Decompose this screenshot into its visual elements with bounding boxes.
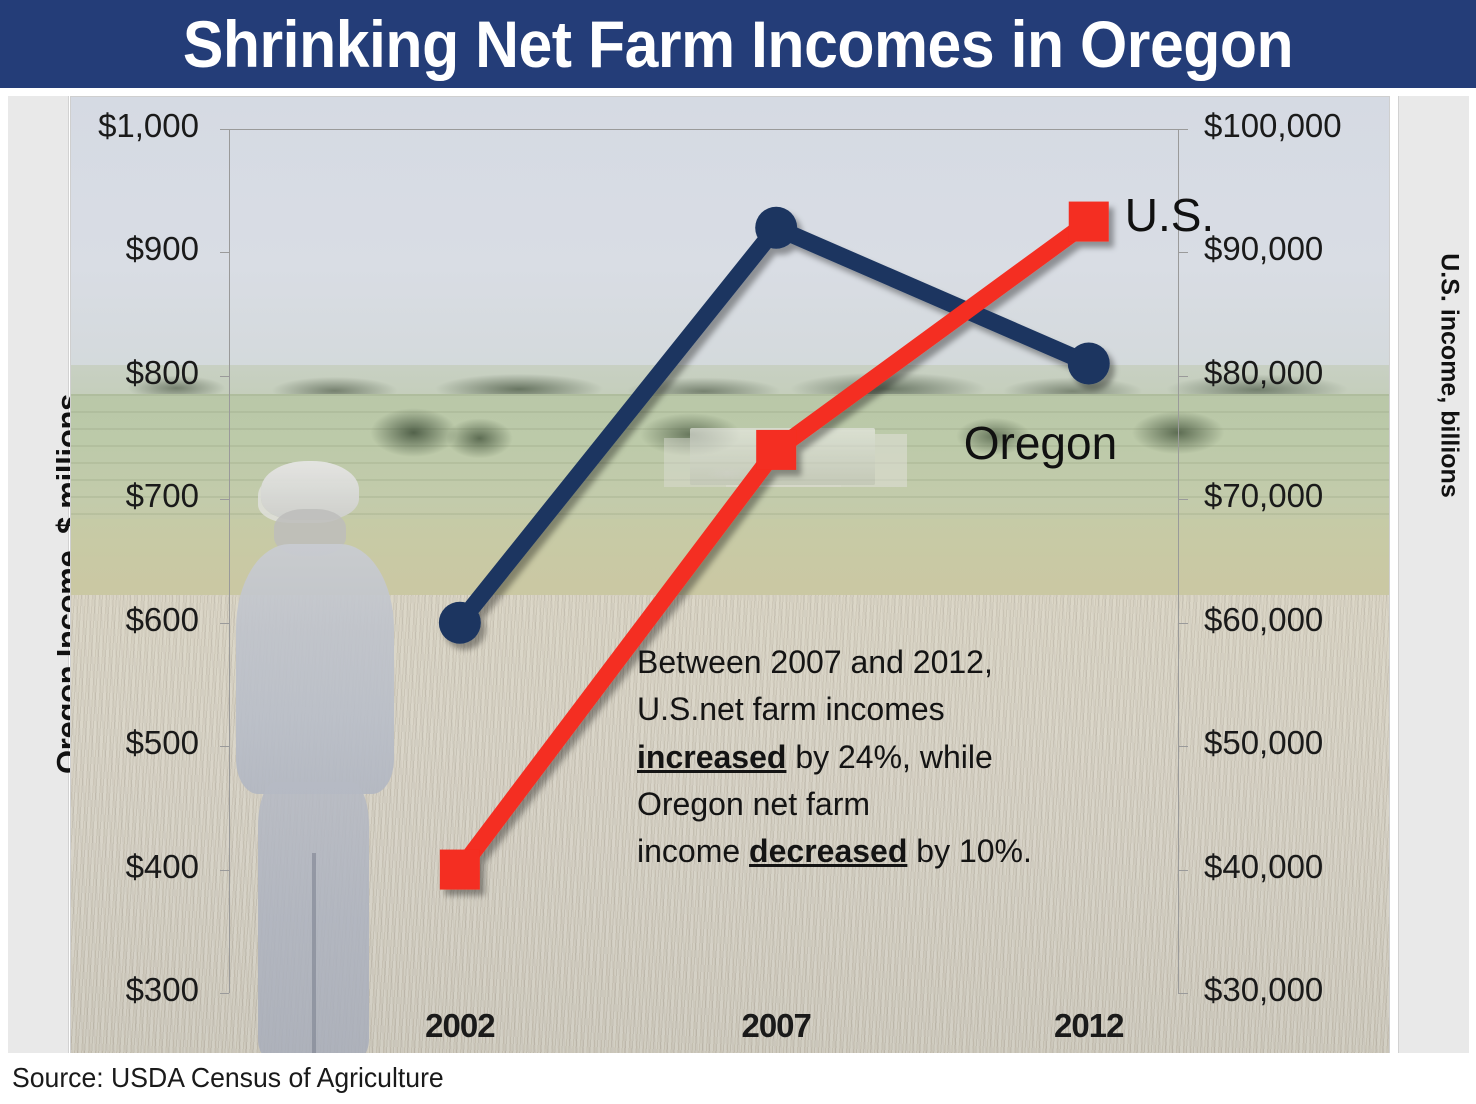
annotation-line-5: income decreased by 10%.	[637, 828, 1107, 875]
left-tick	[220, 623, 229, 624]
x-tick-label: 2012	[1054, 1007, 1123, 1045]
annotation-line-4: Oregon net farm	[637, 781, 1107, 828]
right-tick	[1178, 376, 1188, 377]
right-tick-label: $70,000	[1204, 477, 1323, 515]
left-axis-title-panel: Oregon Income, $ millions	[8, 96, 69, 1056]
data-point-marker	[755, 207, 797, 249]
right-tick-label: $90,000	[1204, 230, 1323, 268]
series-label-us: U.S.	[1125, 188, 1214, 242]
left-tick	[220, 746, 229, 747]
annotation-emphasis-decreased: decreased	[749, 833, 907, 869]
infographic-page: Shrinking Net Farm Incomes in Oregon Ore…	[0, 0, 1476, 1104]
right-tick	[1178, 993, 1188, 994]
right-tick	[1178, 129, 1188, 130]
annotation-line-5-start: income	[637, 833, 749, 869]
right-tick-label: $30,000	[1204, 971, 1323, 1009]
left-tick-label: $400	[126, 848, 199, 886]
left-tick-label: $900	[126, 230, 199, 268]
annotation-line-1: Between 2007 and 2012,	[637, 639, 1107, 686]
right-tick-label: $80,000	[1204, 354, 1323, 392]
right-tick	[1178, 746, 1188, 747]
page-title: Shrinking Net Farm Incomes in Oregon	[59, 0, 1417, 88]
left-tick	[220, 993, 229, 994]
left-tick-label: $300	[126, 971, 199, 1009]
data-point-marker	[756, 430, 796, 470]
annotation-callout: Between 2007 and 2012, U.S.net farm inco…	[637, 639, 1107, 876]
annotation-line-3: increased by 24%, while	[637, 734, 1107, 781]
right-tick	[1178, 252, 1188, 253]
x-tick-label: 2002	[425, 1007, 494, 1045]
left-tick	[220, 376, 229, 377]
left-tick	[220, 499, 229, 500]
data-point-marker	[439, 602, 481, 644]
left-tick	[220, 252, 229, 253]
right-tick	[1178, 499, 1188, 500]
left-tick-label: $1,000	[98, 107, 199, 145]
chart-canvas: $300$400$500$600$700$800$900$1,000 $30,0…	[70, 96, 1390, 1056]
source-caption: Source: USDA Census of Agriculture	[12, 1062, 444, 1094]
right-tick-label: $100,000	[1204, 107, 1342, 145]
right-axis-title: U.S. income, billions	[1435, 0, 1464, 876]
right-tick-label: $50,000	[1204, 724, 1323, 762]
data-point-marker	[1068, 343, 1110, 385]
right-tick	[1178, 623, 1188, 624]
annotation-emphasis-increased: increased	[637, 739, 786, 775]
annotation-line-5-end: by 10%.	[907, 833, 1032, 869]
left-tick-label: $500	[126, 724, 199, 762]
x-tick-label: 2007	[741, 1007, 810, 1045]
data-point-marker	[1069, 202, 1109, 242]
annotation-line-2: U.S.net farm incomes	[637, 686, 1107, 733]
right-axis-title-panel: U.S. income, billions	[1398, 96, 1469, 1056]
right-tick-label: $60,000	[1204, 601, 1323, 639]
header-banner: Shrinking Net Farm Incomes in Oregon	[0, 0, 1476, 88]
left-tick-label: $800	[126, 354, 199, 392]
right-tick-label: $40,000	[1204, 848, 1323, 886]
left-tick-label: $700	[126, 477, 199, 515]
annotation-line-3-rest: by 24%, while	[786, 739, 992, 775]
series-label-oregon: Oregon	[964, 416, 1117, 470]
left-tick-label: $600	[126, 601, 199, 639]
left-tick	[220, 870, 229, 871]
right-tick	[1178, 870, 1188, 871]
left-tick	[220, 129, 229, 130]
data-point-marker	[440, 850, 480, 890]
